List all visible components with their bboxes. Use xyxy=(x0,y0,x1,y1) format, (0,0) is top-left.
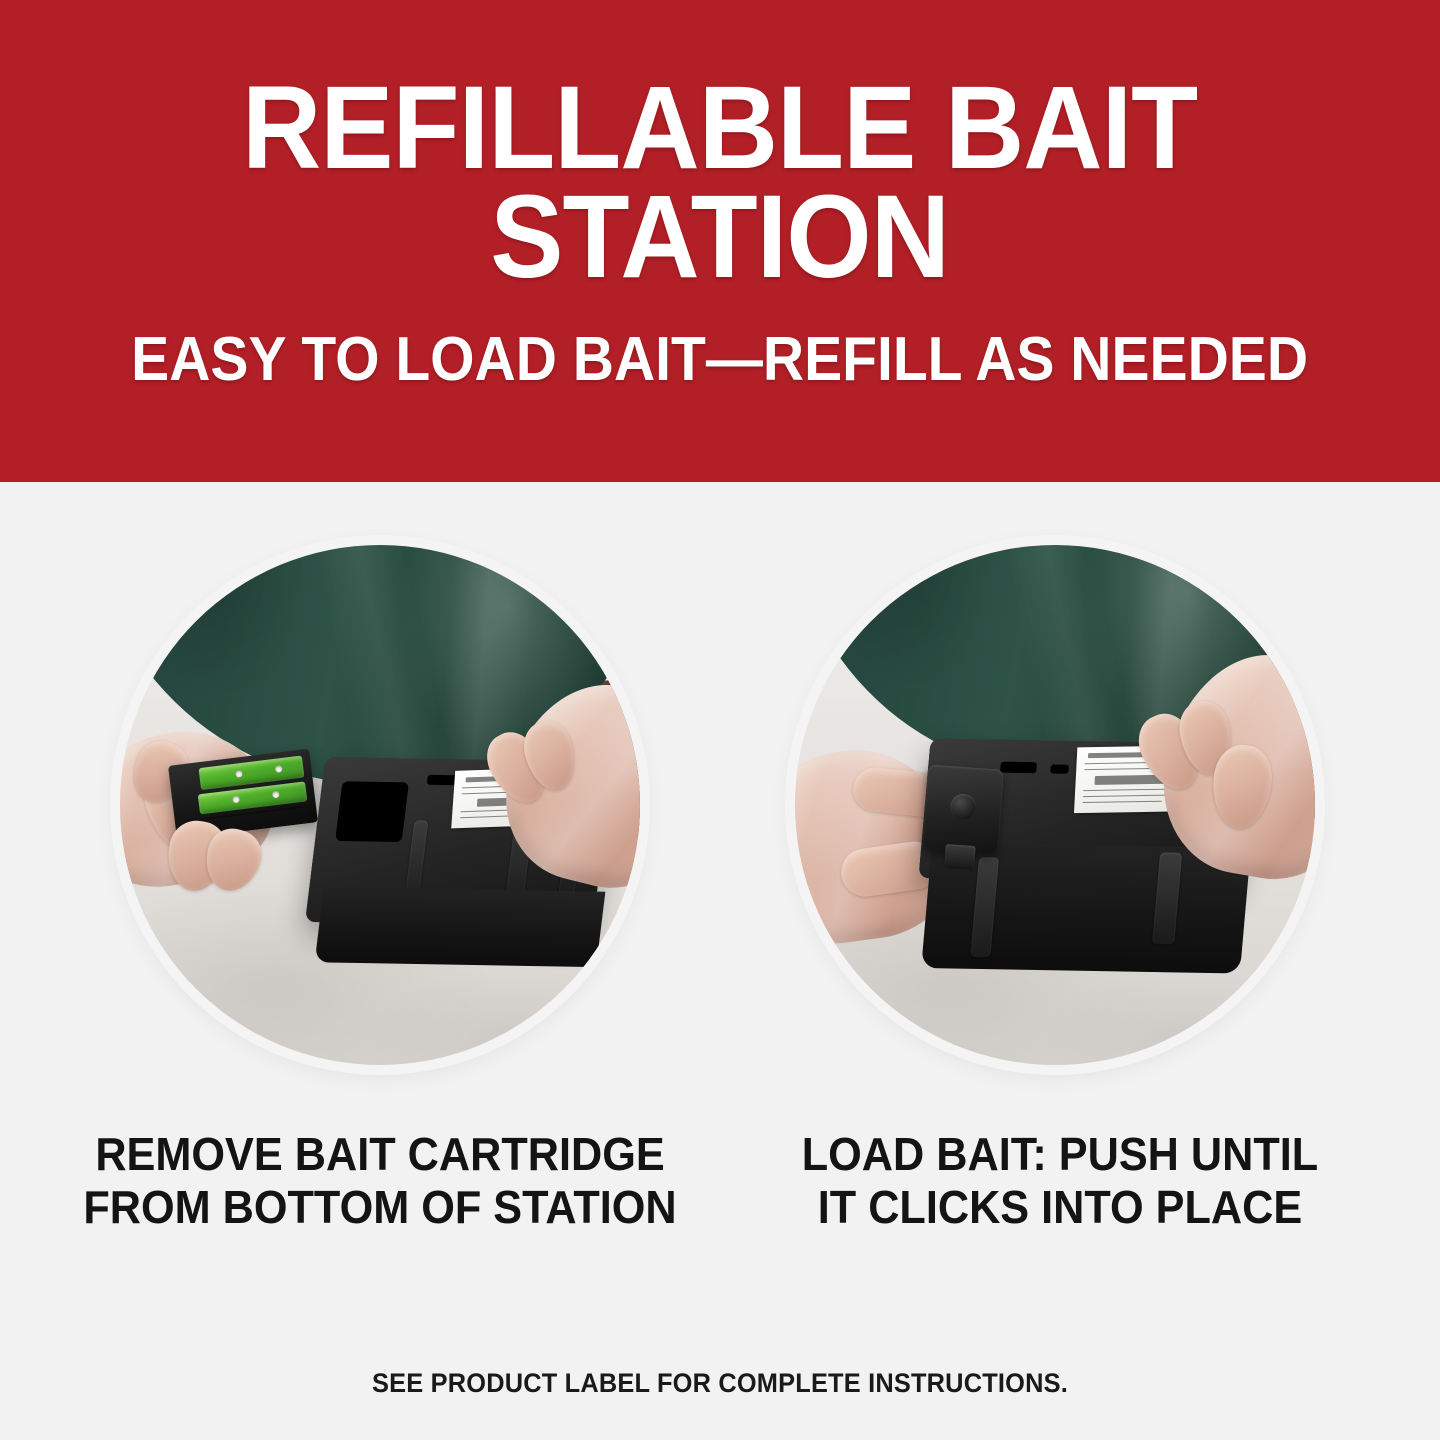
step-2-photo-circle xyxy=(795,545,1315,1065)
step-1-panel xyxy=(100,482,660,1082)
station-rib xyxy=(1152,852,1182,944)
station-cartridge-slot xyxy=(335,781,409,842)
bait-hole xyxy=(275,765,283,773)
label-line xyxy=(1083,801,1162,804)
bait-hole xyxy=(272,791,280,799)
station-vent-slot xyxy=(1050,765,1069,774)
footer-note: SEE PRODUCT LABEL FOR COMPLETE INSTRUCTI… xyxy=(43,1368,1397,1399)
header-banner: REFILLABLE BAIT STATION EASY TO LOAD BAI… xyxy=(0,0,1440,482)
step-1-caption: REMOVE BAIT CARTRIDGE FROM BOTTOM OF STA… xyxy=(70,1128,690,1235)
step-2-panel xyxy=(775,482,1335,1082)
page-title: REFILLABLE BAIT STATION xyxy=(242,74,1197,291)
door-latch-tab xyxy=(944,844,975,868)
step-captions: REMOVE BAIT CARTRIDGE FROM BOTTOM OF STA… xyxy=(0,1128,1440,1278)
cartridge-door xyxy=(922,764,1004,855)
step-photos xyxy=(0,482,1440,1162)
bait-station-front xyxy=(315,887,606,967)
station-vent-slot xyxy=(1000,762,1037,774)
bait-hole xyxy=(235,770,243,778)
step-2-photo xyxy=(795,545,1315,1065)
infographic-page: REFILLABLE BAIT STATION EASY TO LOAD BAI… xyxy=(0,0,1440,1440)
step-2-caption: LOAD BAIT: PUSH UNTIL IT CLICKS INTO PLA… xyxy=(750,1128,1370,1235)
step-1-photo xyxy=(120,545,640,1065)
bait-hole xyxy=(232,795,240,803)
step-1-photo-circle xyxy=(120,545,640,1065)
page-subtitle: EASY TO LOAD BAIT—REFILL AS NEEDED xyxy=(132,329,1309,391)
door-dial xyxy=(949,793,977,821)
station-rib xyxy=(970,857,999,957)
